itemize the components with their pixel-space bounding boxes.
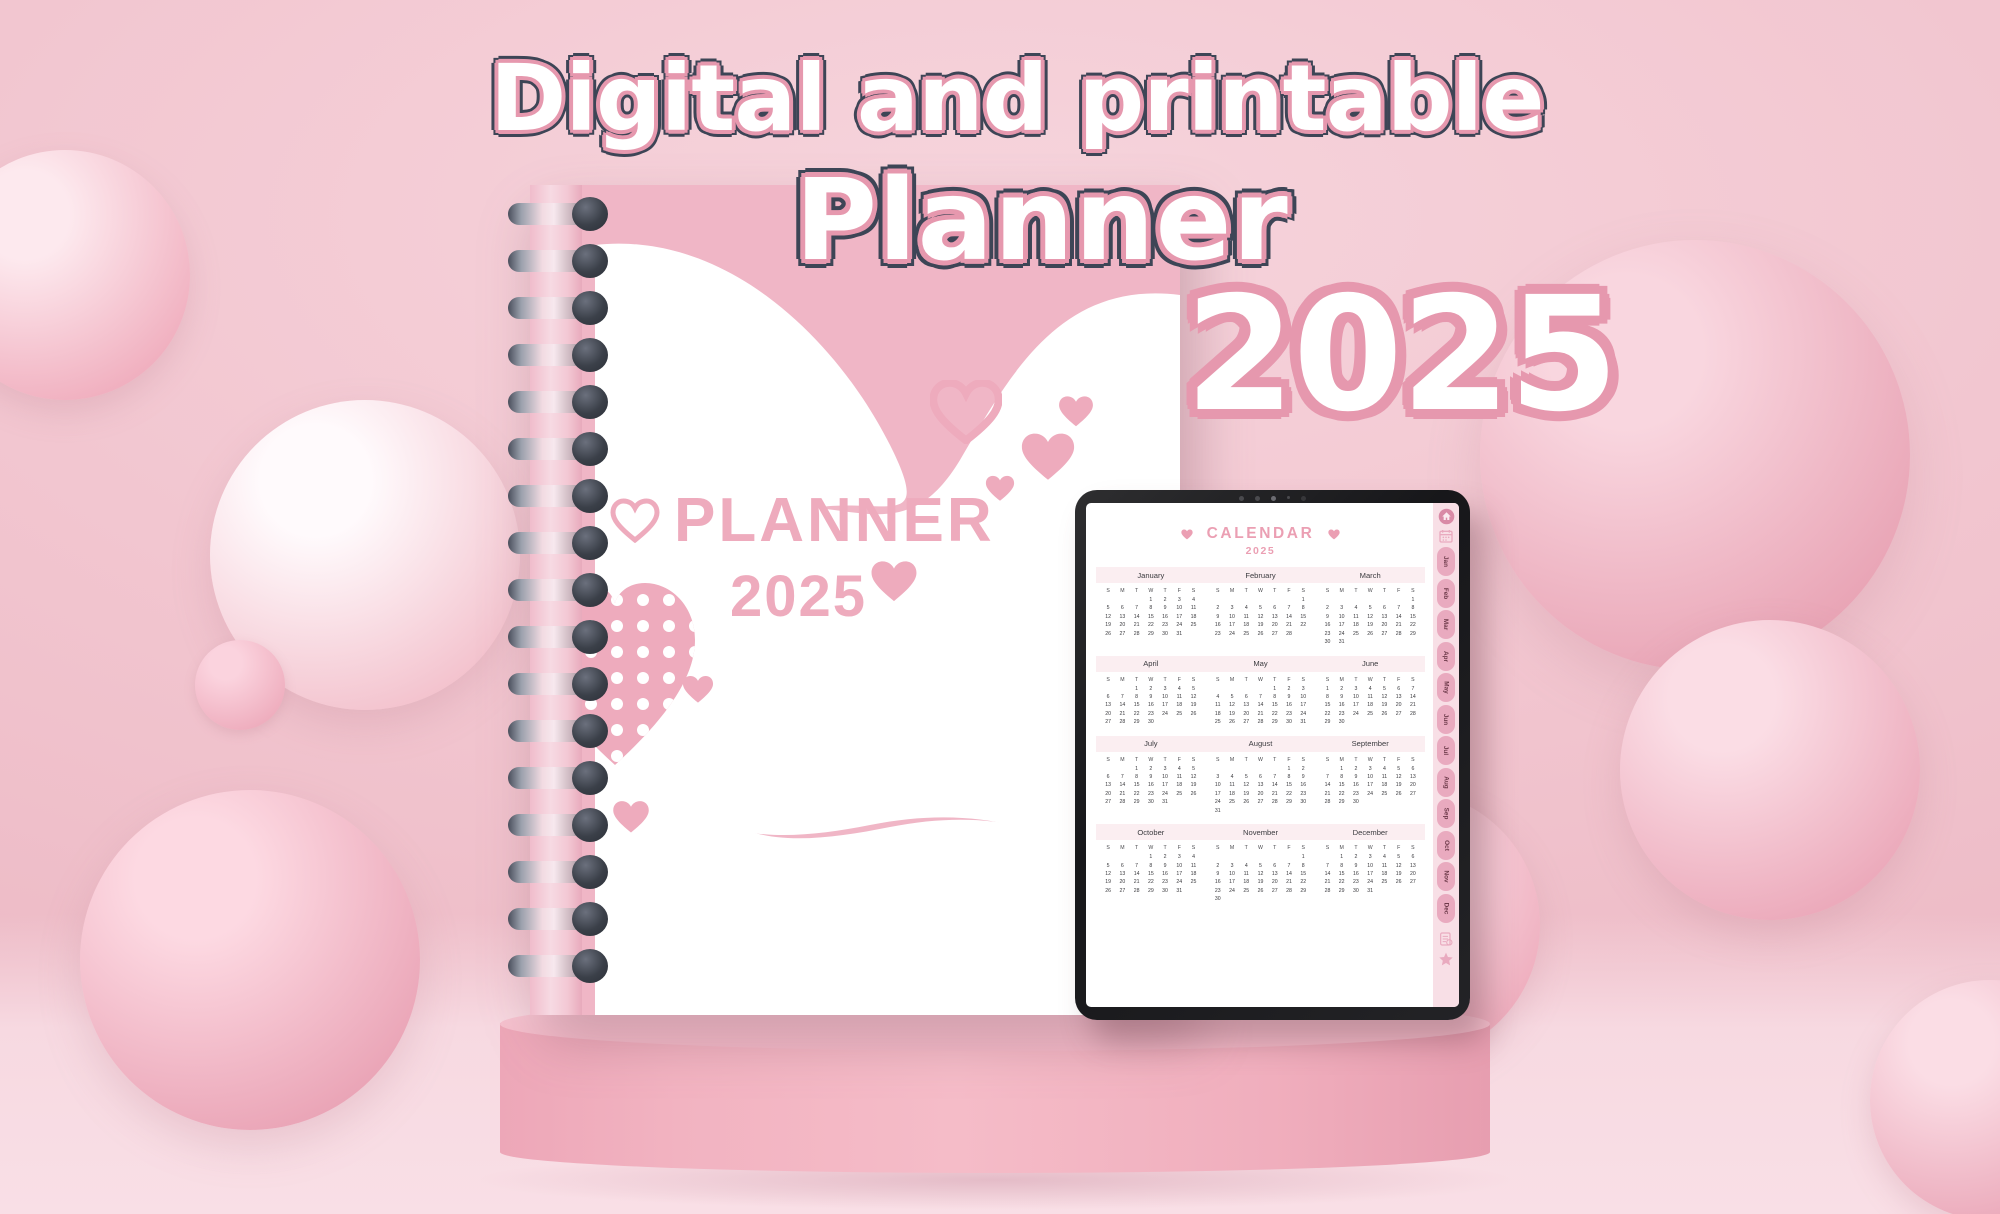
day-number[interactable]: 9 — [1211, 613, 1225, 621]
day-number[interactable]: 30 — [1158, 630, 1172, 638]
month-cell[interactable]: SMTWTFS 12345678910111213141516171819202… — [1315, 842, 1425, 904]
sidebar-month-tab-sep[interactable]: Sep — [1437, 799, 1455, 828]
day-number[interactable]: 31 — [1211, 807, 1225, 815]
day-number[interactable]: 1 — [1406, 596, 1420, 604]
day-number[interactable]: 19 — [1101, 878, 1115, 886]
day-number[interactable]: 24 — [1349, 710, 1363, 718]
day-number[interactable]: 27 — [1268, 630, 1282, 638]
day-number[interactable]: 12 — [1392, 862, 1406, 870]
day-number[interactable]: 30 — [1335, 718, 1349, 726]
day-number[interactable]: 28 — [1253, 718, 1267, 726]
sidebar-month-tab-jul[interactable]: Jul — [1437, 736, 1455, 765]
day-number[interactable]: 6 — [1268, 862, 1282, 870]
day-number[interactable]: 7 — [1115, 693, 1129, 701]
sidebar-month-tab-feb[interactable]: Feb — [1437, 579, 1455, 608]
day-number[interactable]: 5 — [1101, 862, 1115, 870]
day-number[interactable]: 20 — [1377, 621, 1391, 629]
day-number[interactable]: 17 — [1225, 621, 1239, 629]
month-cell[interactable]: SMTWTFS 12345678910111213141516171819202… — [1206, 754, 1316, 816]
day-number[interactable]: 28 — [1282, 630, 1296, 638]
day-number[interactable]: 21 — [1282, 878, 1296, 886]
day-number[interactable]: 25 — [1186, 878, 1200, 886]
day-number[interactable]: 6 — [1406, 765, 1420, 773]
day-number[interactable]: 2 — [1349, 853, 1363, 861]
day-number[interactable]: 14 — [1115, 781, 1129, 789]
day-number[interactable]: 19 — [1239, 790, 1253, 798]
day-number[interactable]: 16 — [1158, 613, 1172, 621]
day-number[interactable]: 31 — [1172, 887, 1186, 895]
day-number[interactable]: 15 — [1129, 781, 1143, 789]
day-number[interactable]: 6 — [1268, 604, 1282, 612]
day-number[interactable]: 6 — [1101, 773, 1115, 781]
day-number[interactable]: 24 — [1172, 621, 1186, 629]
day-number[interactable]: 7 — [1268, 773, 1282, 781]
day-number[interactable]: 4 — [1349, 604, 1363, 612]
day-number[interactable]: 26 — [1101, 887, 1115, 895]
day-number[interactable]: 7 — [1392, 604, 1406, 612]
day-number[interactable]: 6 — [1377, 604, 1391, 612]
day-number[interactable]: 19 — [1101, 621, 1115, 629]
day-number[interactable]: 21 — [1320, 790, 1334, 798]
day-number[interactable]: 19 — [1392, 781, 1406, 789]
day-number[interactable]: 17 — [1363, 781, 1377, 789]
day-number[interactable]: 4 — [1172, 765, 1186, 773]
day-number[interactable]: 21 — [1268, 790, 1282, 798]
day-number[interactable]: 10 — [1363, 773, 1377, 781]
day-number[interactable]: 29 — [1406, 630, 1420, 638]
day-number[interactable]: 12 — [1101, 870, 1115, 878]
month-cell[interactable]: SMTWTFS 12345678910111213141516171819202… — [1096, 585, 1206, 647]
day-number[interactable]: 17 — [1172, 613, 1186, 621]
day-number[interactable]: 23 — [1144, 710, 1158, 718]
day-number[interactable]: 1 — [1129, 765, 1143, 773]
day-number[interactable]: 3 — [1211, 773, 1225, 781]
day-number[interactable]: 24 — [1225, 630, 1239, 638]
month-cell[interactable]: SMTWTFS 12345678910111213141516171819202… — [1206, 674, 1316, 727]
day-number[interactable]: 20 — [1239, 710, 1253, 718]
day-number[interactable]: 23 — [1296, 790, 1310, 798]
day-number[interactable]: 6 — [1253, 773, 1267, 781]
day-number[interactable]: 27 — [1377, 630, 1391, 638]
day-number[interactable]: 25 — [1239, 887, 1253, 895]
day-number[interactable]: 22 — [1282, 790, 1296, 798]
day-number[interactable]: 16 — [1320, 621, 1334, 629]
month-cell[interactable]: SMTWTFS 12345678910111213141516171819202… — [1096, 674, 1206, 727]
day-number[interactable]: 1 — [1335, 765, 1349, 773]
calendar-icon[interactable] — [1438, 528, 1455, 545]
day-number[interactable]: 29 — [1144, 630, 1158, 638]
day-number[interactable]: 19 — [1363, 621, 1377, 629]
day-number[interactable]: 12 — [1101, 613, 1115, 621]
day-number[interactable]: 11 — [1377, 773, 1391, 781]
day-number[interactable]: 14 — [1406, 693, 1420, 701]
day-number[interactable]: 24 — [1158, 790, 1172, 798]
day-number[interactable]: 9 — [1349, 773, 1363, 781]
day-number[interactable]: 13 — [1101, 701, 1115, 709]
month-cell[interactable]: SMTWTFS123456789101112131415161718192021… — [1315, 674, 1425, 727]
day-number[interactable]: 7 — [1253, 693, 1267, 701]
day-number[interactable]: 26 — [1253, 887, 1267, 895]
day-number[interactable]: 12 — [1392, 773, 1406, 781]
day-number[interactable]: 24 — [1172, 878, 1186, 886]
sidebar-month-tab-dec[interactable]: Dec — [1437, 894, 1455, 923]
day-number[interactable]: 20 — [1406, 870, 1420, 878]
day-number[interactable]: 17 — [1158, 701, 1172, 709]
day-number[interactable]: 5 — [1392, 853, 1406, 861]
day-number[interactable]: 27 — [1239, 718, 1253, 726]
day-number[interactable]: 5 — [1101, 604, 1115, 612]
day-number[interactable]: 11 — [1349, 613, 1363, 621]
day-number[interactable]: 3 — [1172, 853, 1186, 861]
day-number[interactable]: 15 — [1335, 781, 1349, 789]
day-number[interactable]: 16 — [1144, 781, 1158, 789]
day-number[interactable]: 2 — [1296, 765, 1310, 773]
day-number[interactable]: 11 — [1186, 604, 1200, 612]
day-number[interactable]: 7 — [1115, 773, 1129, 781]
day-number[interactable]: 25 — [1349, 630, 1363, 638]
day-number[interactable]: 9 — [1320, 613, 1334, 621]
day-number[interactable]: 7 — [1129, 862, 1143, 870]
day-number[interactable]: 15 — [1320, 701, 1334, 709]
day-number[interactable]: 10 — [1158, 773, 1172, 781]
day-number[interactable]: 18 — [1172, 701, 1186, 709]
day-number[interactable]: 6 — [1115, 604, 1129, 612]
day-number[interactable]: 31 — [1172, 630, 1186, 638]
day-number[interactable]: 15 — [1406, 613, 1420, 621]
day-number[interactable]: 28 — [1268, 798, 1282, 806]
day-number[interactable]: 26 — [1253, 630, 1267, 638]
day-number[interactable]: 4 — [1377, 853, 1391, 861]
day-number[interactable]: 5 — [1186, 685, 1200, 693]
day-number[interactable]: 2 — [1211, 862, 1225, 870]
day-number[interactable]: 3 — [1225, 604, 1239, 612]
day-number[interactable]: 22 — [1406, 621, 1420, 629]
day-number[interactable]: 20 — [1406, 781, 1420, 789]
sidebar-month-tab-nov[interactable]: Nov — [1437, 862, 1455, 891]
day-number[interactable]: 15 — [1335, 870, 1349, 878]
day-number[interactable]: 31 — [1296, 718, 1310, 726]
day-number[interactable]: 22 — [1144, 621, 1158, 629]
day-number[interactable]: 3 — [1225, 862, 1239, 870]
day-number[interactable]: 6 — [1406, 853, 1420, 861]
day-number[interactable]: 14 — [1129, 870, 1143, 878]
day-number[interactable]: 28 — [1115, 798, 1129, 806]
day-number[interactable]: 10 — [1335, 613, 1349, 621]
day-number[interactable]: 25 — [1239, 630, 1253, 638]
day-number[interactable]: 28 — [1129, 630, 1143, 638]
day-number[interactable]: 17 — [1172, 870, 1186, 878]
day-number[interactable]: 17 — [1363, 870, 1377, 878]
month-cell[interactable]: SMTWTFS 12345678910111213141516171819202… — [1096, 754, 1206, 816]
day-number[interactable]: 27 — [1406, 790, 1420, 798]
day-number[interactable]: 14 — [1115, 701, 1129, 709]
day-number[interactable]: 12 — [1253, 613, 1267, 621]
day-number[interactable]: 7 — [1320, 773, 1334, 781]
day-number[interactable]: 16 — [1349, 781, 1363, 789]
day-number[interactable]: 21 — [1392, 621, 1406, 629]
day-number[interactable]: 22 — [1320, 710, 1334, 718]
day-number[interactable]: 20 — [1268, 621, 1282, 629]
day-number[interactable]: 4 — [1172, 685, 1186, 693]
month-cell[interactable]: SMTWTFS 12345678910111213141516171819202… — [1096, 842, 1206, 904]
day-number[interactable]: 18 — [1377, 870, 1391, 878]
day-number[interactable]: 28 — [1282, 887, 1296, 895]
day-number[interactable]: 22 — [1296, 878, 1310, 886]
day-number[interactable]: 15 — [1144, 870, 1158, 878]
day-number[interactable]: 23 — [1211, 887, 1225, 895]
day-number[interactable]: 5 — [1186, 765, 1200, 773]
day-number[interactable]: 16 — [1296, 781, 1310, 789]
day-number[interactable]: 25 — [1225, 798, 1239, 806]
day-number[interactable]: 10 — [1225, 613, 1239, 621]
day-number[interactable]: 13 — [1377, 613, 1391, 621]
home-icon[interactable] — [1438, 508, 1455, 525]
day-number[interactable]: 27 — [1101, 718, 1115, 726]
day-number[interactable]: 26 — [1392, 878, 1406, 886]
day-number[interactable]: 23 — [1144, 790, 1158, 798]
day-number[interactable]: 25 — [1172, 710, 1186, 718]
day-number[interactable]: 13 — [1115, 870, 1129, 878]
day-number[interactable]: 5 — [1392, 765, 1406, 773]
day-number[interactable]: 10 — [1172, 604, 1186, 612]
day-number[interactable]: 2 — [1320, 604, 1334, 612]
day-number[interactable]: 22 — [1268, 710, 1282, 718]
day-number[interactable]: 26 — [1377, 710, 1391, 718]
day-number[interactable]: 29 — [1320, 718, 1334, 726]
day-number[interactable]: 15 — [1296, 870, 1310, 878]
day-number[interactable]: 15 — [1129, 701, 1143, 709]
day-number[interactable]: 8 — [1144, 862, 1158, 870]
day-number[interactable]: 11 — [1363, 693, 1377, 701]
day-number[interactable]: 19 — [1253, 621, 1267, 629]
day-number[interactable]: 6 — [1239, 693, 1253, 701]
day-number[interactable]: 30 — [1282, 718, 1296, 726]
day-number[interactable]: 13 — [1115, 613, 1129, 621]
day-number[interactable]: 3 — [1363, 765, 1377, 773]
day-number[interactable]: 29 — [1129, 798, 1143, 806]
day-number[interactable]: 13 — [1268, 870, 1282, 878]
day-number[interactable]: 1 — [1296, 853, 1310, 861]
day-number[interactable]: 3 — [1158, 765, 1172, 773]
day-number[interactable]: 20 — [1115, 878, 1129, 886]
sidebar-month-tab-apr[interactable]: Apr — [1437, 642, 1455, 671]
day-number[interactable]: 23 — [1349, 878, 1363, 886]
sidebar-month-tab-jan[interactable]: Jan — [1437, 547, 1455, 576]
day-number[interactable]: 30 — [1158, 887, 1172, 895]
day-number[interactable]: 3 — [1349, 685, 1363, 693]
month-cell[interactable]: SMTWTFS 12345678910111213141516171819202… — [1206, 585, 1316, 647]
day-number[interactable]: 30 — [1349, 798, 1363, 806]
day-number[interactable]: 7 — [1282, 604, 1296, 612]
day-number[interactable]: 17 — [1211, 790, 1225, 798]
day-number[interactable]: 2 — [1349, 765, 1363, 773]
day-number[interactable]: 14 — [1129, 613, 1143, 621]
day-number[interactable]: 20 — [1268, 878, 1282, 886]
day-number[interactable]: 4 — [1363, 685, 1377, 693]
day-number[interactable]: 24 — [1363, 790, 1377, 798]
day-number[interactable]: 3 — [1363, 853, 1377, 861]
day-number[interactable]: 6 — [1101, 693, 1115, 701]
day-number[interactable]: 15 — [1296, 613, 1310, 621]
day-number[interactable]: 26 — [1239, 798, 1253, 806]
day-number[interactable]: 13 — [1239, 701, 1253, 709]
day-number[interactable]: 23 — [1211, 630, 1225, 638]
day-number[interactable]: 10 — [1363, 862, 1377, 870]
day-number[interactable]: 19 — [1392, 870, 1406, 878]
day-number[interactable]: 27 — [1253, 798, 1267, 806]
day-number[interactable]: 4 — [1239, 604, 1253, 612]
day-number[interactable]: 16 — [1349, 870, 1363, 878]
day-number[interactable]: 14 — [1282, 613, 1296, 621]
day-number[interactable]: 25 — [1377, 790, 1391, 798]
day-number[interactable]: 12 — [1239, 781, 1253, 789]
day-number[interactable]: 27 — [1101, 798, 1115, 806]
day-number[interactable]: 12 — [1363, 613, 1377, 621]
day-number[interactable]: 30 — [1296, 798, 1310, 806]
day-number[interactable]: 16 — [1335, 701, 1349, 709]
day-number[interactable]: 19 — [1186, 781, 1200, 789]
day-number[interactable]: 9 — [1335, 693, 1349, 701]
month-cell[interactable]: SMTWTFS 12345678910111213141516171819202… — [1315, 585, 1425, 647]
day-number[interactable]: 3 — [1172, 596, 1186, 604]
day-number[interactable]: 9 — [1282, 693, 1296, 701]
day-number[interactable]: 11 — [1239, 870, 1253, 878]
sidebar-month-tab-oct[interactable]: Oct — [1437, 831, 1455, 860]
day-number[interactable]: 2 — [1158, 853, 1172, 861]
day-number[interactable]: 10 — [1172, 862, 1186, 870]
day-number[interactable]: 27 — [1392, 710, 1406, 718]
day-number[interactable]: 9 — [1158, 604, 1172, 612]
day-number[interactable]: 9 — [1158, 862, 1172, 870]
day-number[interactable]: 20 — [1101, 790, 1115, 798]
day-number[interactable]: 28 — [1392, 630, 1406, 638]
day-number[interactable]: 20 — [1115, 621, 1129, 629]
day-number[interactable]: 8 — [1282, 773, 1296, 781]
day-number[interactable]: 18 — [1377, 781, 1391, 789]
day-number[interactable]: 28 — [1129, 887, 1143, 895]
day-number[interactable]: 12 — [1253, 870, 1267, 878]
day-number[interactable]: 22 — [1144, 878, 1158, 886]
day-number[interactable]: 28 — [1115, 718, 1129, 726]
day-number[interactable]: 10 — [1211, 781, 1225, 789]
day-number[interactable]: 18 — [1349, 621, 1363, 629]
day-number[interactable]: 26 — [1225, 718, 1239, 726]
day-number[interactable]: 14 — [1320, 870, 1334, 878]
day-number[interactable]: 12 — [1225, 701, 1239, 709]
day-number[interactable]: 16 — [1282, 701, 1296, 709]
day-number[interactable]: 28 — [1320, 887, 1334, 895]
day-number[interactable]: 8 — [1129, 693, 1143, 701]
day-number[interactable]: 24 — [1211, 798, 1225, 806]
month-cell[interactable]: SMTWTFS 12345678910111213141516171819202… — [1315, 754, 1425, 816]
day-number[interactable]: 17 — [1335, 621, 1349, 629]
day-number[interactable]: 5 — [1363, 604, 1377, 612]
day-number[interactable]: 19 — [1253, 878, 1267, 886]
day-number[interactable]: 29 — [1144, 887, 1158, 895]
day-number[interactable]: 18 — [1239, 878, 1253, 886]
day-number[interactable]: 13 — [1392, 693, 1406, 701]
day-number[interactable]: 4 — [1377, 765, 1391, 773]
day-number[interactable]: 9 — [1349, 862, 1363, 870]
day-number[interactable]: 1 — [1282, 765, 1296, 773]
day-number[interactable]: 8 — [1296, 604, 1310, 612]
day-number[interactable]: 20 — [1253, 790, 1267, 798]
day-number[interactable]: 6 — [1392, 685, 1406, 693]
day-number[interactable]: 21 — [1253, 710, 1267, 718]
day-number[interactable]: 30 — [1320, 638, 1334, 646]
day-number[interactable]: 31 — [1335, 638, 1349, 646]
day-number[interactable]: 4 — [1239, 862, 1253, 870]
day-number[interactable]: 11 — [1186, 862, 1200, 870]
day-number[interactable]: 24 — [1225, 887, 1239, 895]
day-number[interactable]: 20 — [1101, 710, 1115, 718]
day-number[interactable]: 4 — [1186, 596, 1200, 604]
day-number[interactable]: 3 — [1296, 685, 1310, 693]
day-number[interactable]: 7 — [1406, 685, 1420, 693]
day-number[interactable]: 30 — [1349, 887, 1363, 895]
star-icon[interactable] — [1438, 950, 1455, 967]
day-number[interactable]: 12 — [1186, 773, 1200, 781]
day-number[interactable]: 16 — [1211, 621, 1225, 629]
day-number[interactable]: 23 — [1320, 630, 1334, 638]
day-number[interactable]: 29 — [1296, 887, 1310, 895]
day-number[interactable]: 23 — [1349, 790, 1363, 798]
day-number[interactable]: 7 — [1282, 862, 1296, 870]
day-number[interactable]: 2 — [1335, 685, 1349, 693]
day-number[interactable]: 5 — [1253, 604, 1267, 612]
day-number[interactable]: 17 — [1349, 701, 1363, 709]
day-number[interactable]: 25 — [1211, 718, 1225, 726]
day-number[interactable]: 1 — [1268, 685, 1282, 693]
day-number[interactable]: 31 — [1158, 798, 1172, 806]
day-number[interactable]: 5 — [1377, 685, 1391, 693]
day-number[interactable]: 5 — [1239, 773, 1253, 781]
day-number[interactable]: 1 — [1296, 596, 1310, 604]
day-number[interactable]: 28 — [1406, 710, 1420, 718]
day-number[interactable]: 29 — [1129, 718, 1143, 726]
day-number[interactable]: 27 — [1115, 887, 1129, 895]
day-number[interactable]: 2 — [1144, 765, 1158, 773]
day-number[interactable]: 30 — [1144, 798, 1158, 806]
day-number[interactable]: 5 — [1253, 862, 1267, 870]
day-number[interactable]: 8 — [1268, 693, 1282, 701]
day-number[interactable]: 4 — [1186, 853, 1200, 861]
day-number[interactable]: 18 — [1225, 790, 1239, 798]
day-number[interactable]: 1 — [1335, 853, 1349, 861]
day-number[interactable]: 14 — [1282, 870, 1296, 878]
day-number[interactable]: 11 — [1172, 693, 1186, 701]
day-number[interactable]: 20 — [1392, 701, 1406, 709]
day-number[interactable]: 11 — [1377, 862, 1391, 870]
day-number[interactable]: 1 — [1129, 685, 1143, 693]
day-number[interactable]: 2 — [1158, 596, 1172, 604]
day-number[interactable]: 25 — [1172, 790, 1186, 798]
day-number[interactable]: 8 — [1335, 862, 1349, 870]
day-number[interactable]: 26 — [1186, 790, 1200, 798]
day-number[interactable]: 3 — [1335, 604, 1349, 612]
day-number[interactable]: 7 — [1129, 604, 1143, 612]
day-number[interactable]: 10 — [1158, 693, 1172, 701]
day-number[interactable]: 21 — [1115, 790, 1129, 798]
day-number[interactable]: 16 — [1144, 701, 1158, 709]
day-number[interactable]: 23 — [1335, 710, 1349, 718]
day-number[interactable]: 26 — [1363, 630, 1377, 638]
day-number[interactable]: 28 — [1320, 798, 1334, 806]
day-number[interactable]: 30 — [1211, 895, 1225, 903]
day-number[interactable]: 21 — [1129, 878, 1143, 886]
day-number[interactable]: 3 — [1158, 685, 1172, 693]
tablet-screen[interactable]: CALENDAR 2025 JanuaryFebruaryMarchSMTWTF… — [1086, 503, 1459, 1007]
